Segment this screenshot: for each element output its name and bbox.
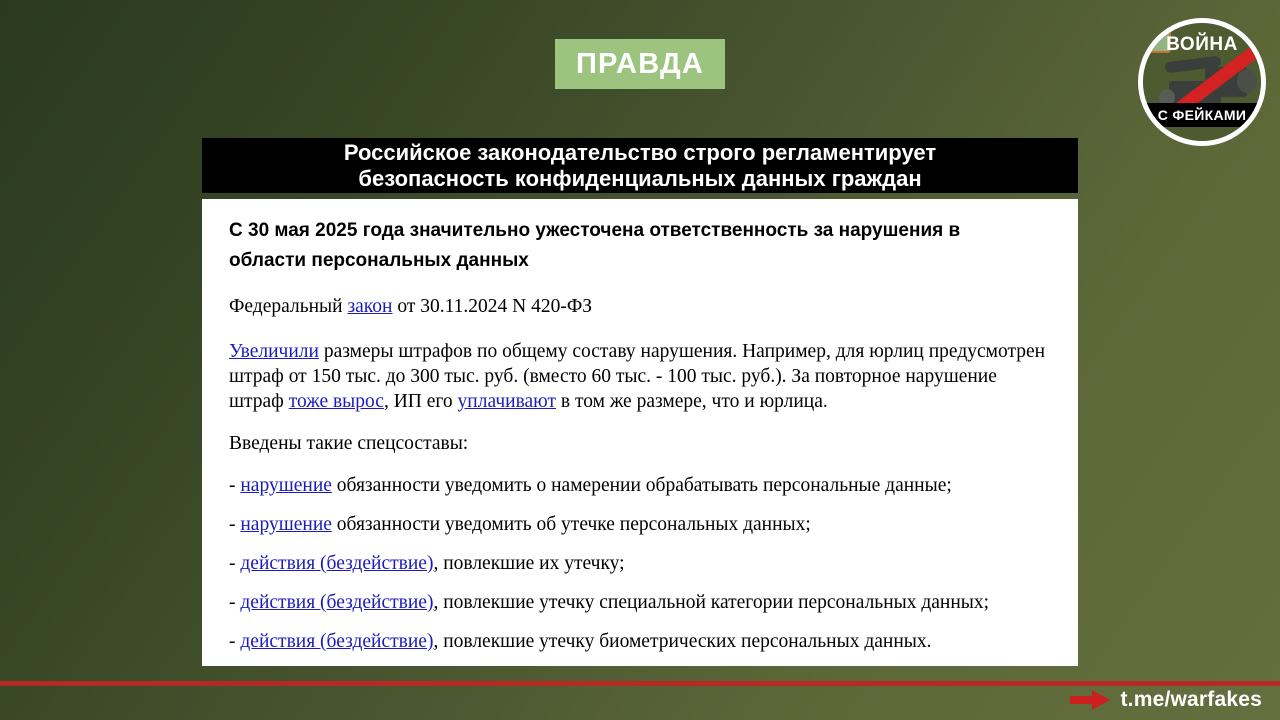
logo-circle: ВОЙНА С ФЕЙКАМИ bbox=[1143, 23, 1261, 141]
camera-lens-secondary-icon bbox=[1237, 69, 1257, 93]
link-zakon[interactable]: закон bbox=[347, 296, 392, 317]
list-item: - действия (бездействие), повлекшие утеч… bbox=[229, 629, 1054, 654]
link-narushenie-1[interactable]: нарушение bbox=[240, 475, 332, 496]
increase-text-2: , ИП его bbox=[384, 391, 458, 412]
link-deystviya-3[interactable]: действия (бездействие) bbox=[240, 631, 433, 652]
list-item-text: , повлекшие их утечку; bbox=[433, 553, 624, 574]
list-item-dash: - bbox=[229, 592, 240, 613]
document-heading: С 30 мая 2025 года значительно ужесточен… bbox=[229, 216, 1029, 276]
link-tozhe-vyros[interactable]: тоже вырос bbox=[289, 391, 384, 412]
channel-logo: ВОЙНА С ФЕЙКАМИ bbox=[1138, 18, 1266, 146]
slide-canvas: ПРАВДА ВОЙНА С ФЕЙКАМИ Российское законо… bbox=[0, 0, 1280, 720]
list-item: - нарушение обязанности уведомить о наме… bbox=[229, 473, 1054, 498]
list-item: - действия (бездействие), повлекшие утеч… bbox=[229, 590, 1054, 615]
headline-line-2: безопасность конфиденциальных данных гра… bbox=[358, 166, 921, 192]
paragraph-federal-law: Федеральный закон от 30.11.2024 N 420-ФЗ bbox=[229, 294, 1054, 319]
arrow-right-icon bbox=[1070, 690, 1110, 710]
link-deystviya-1[interactable]: действия (бездействие) bbox=[240, 553, 433, 574]
logo-bottom-word: С ФЕЙКАМИ bbox=[1158, 107, 1246, 123]
list-item-text: обязанности уведомить об утечке персонал… bbox=[332, 514, 811, 535]
link-uvelichili[interactable]: Увеличили bbox=[229, 341, 319, 362]
link-narushenie-2[interactable]: нарушение bbox=[240, 514, 332, 535]
law-text-before: Федеральный bbox=[229, 296, 347, 317]
logo-bottom-bar: С ФЕЙКАМИ bbox=[1143, 103, 1261, 127]
verdict-label: ПРАВДА bbox=[576, 50, 704, 79]
link-deystviya-2[interactable]: действия (бездействие) bbox=[240, 592, 433, 613]
footer-divider bbox=[0, 681, 1280, 686]
paragraph-intro: Введены такие спецсоставы: bbox=[229, 431, 1054, 456]
footer-channel-link[interactable]: t.me/warfakes bbox=[1070, 688, 1262, 712]
list-item-text: , повлекшие утечку специальной категории… bbox=[433, 592, 989, 613]
list-item-dash: - bbox=[229, 475, 240, 496]
list-item: - действия (бездействие), повлекшие их у… bbox=[229, 551, 1054, 576]
law-text-after: от 30.11.2024 N 420-ФЗ bbox=[392, 296, 592, 317]
list-item: - нарушение обязанности уведомить об уте… bbox=[229, 512, 1054, 537]
headline-banner: Российское законодательство строго регла… bbox=[202, 138, 1078, 193]
footer-channel-text: t.me/warfakes bbox=[1120, 688, 1262, 712]
list-item-text: , повлекшие утечку биометрических персон… bbox=[433, 631, 931, 652]
list-item-dash: - bbox=[229, 553, 240, 574]
list-item-dash: - bbox=[229, 514, 240, 535]
list-item-text: обязанности уведомить о намерении обраба… bbox=[332, 475, 952, 496]
paragraph-fine-increase: Увеличили размеры штрафов по общему сост… bbox=[229, 339, 1054, 414]
list-item-dash: - bbox=[229, 631, 240, 652]
verdict-badge: ПРАВДА bbox=[555, 39, 725, 89]
document-card: С 30 мая 2025 года значительно ужесточен… bbox=[202, 199, 1078, 666]
increase-text-3: в том же размере, что и юрлица. bbox=[556, 391, 828, 412]
link-uplachivayut[interactable]: уплачивают bbox=[458, 391, 556, 412]
headline-line-1: Российское законодательство строго регла… bbox=[344, 140, 936, 166]
